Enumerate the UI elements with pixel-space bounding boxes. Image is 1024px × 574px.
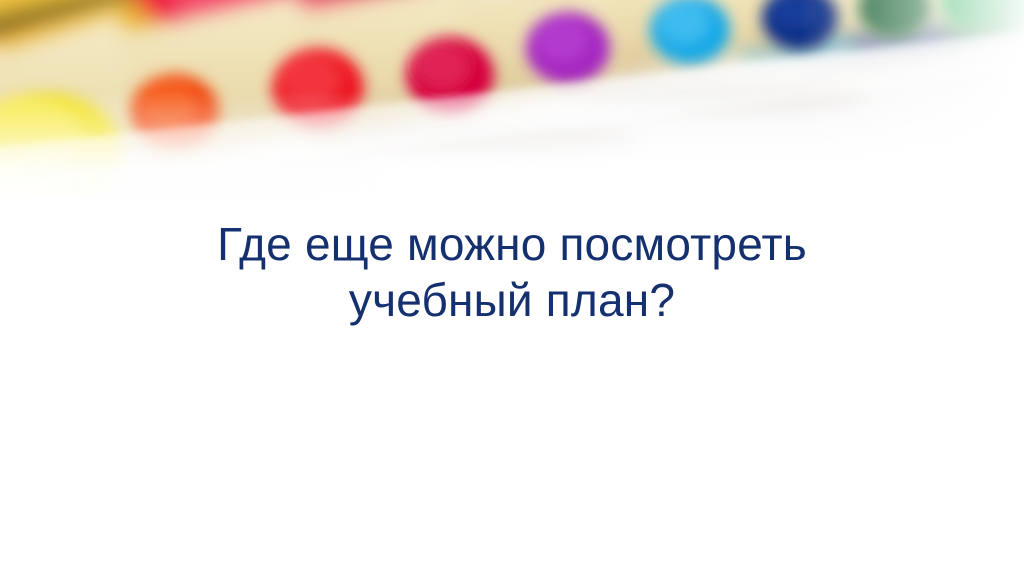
colored-pencils-photo bbox=[0, 0, 1024, 215]
page-title: Где еще можно посмотреть учебный план? bbox=[0, 216, 1024, 328]
slide: Где еще можно посмотреть учебный план? bbox=[0, 0, 1024, 574]
title-block: Где еще можно посмотреть учебный план? bbox=[0, 216, 1024, 328]
